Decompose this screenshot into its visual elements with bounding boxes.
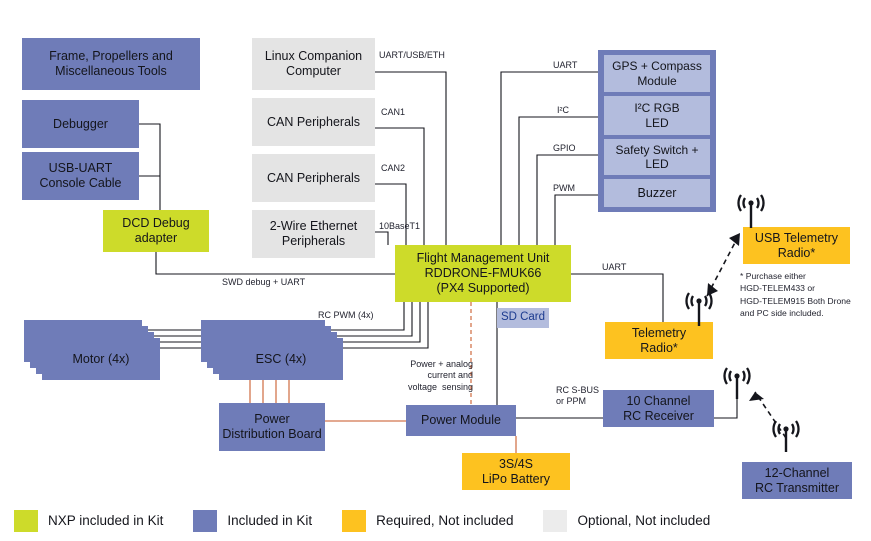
block-can-peripherals-1[interactable]: CAN Peripherals: [252, 98, 375, 146]
antenna-icon-usb-telemetry: [731, 192, 771, 232]
block-gps-compass-module[interactable]: GPS + Compass Module: [604, 55, 710, 92]
legend-item-required: Required, Not included: [342, 510, 513, 532]
label-rc-pwm: RC PWM (4x): [318, 310, 374, 321]
block-can-peripherals-2-label: CAN Peripherals: [267, 171, 360, 186]
block-safety-switch-led[interactable]: Safety Switch + LED: [604, 139, 710, 175]
block-sd-card[interactable]: SD Card: [497, 308, 549, 328]
block-gps-compass-module-label: GPS + Compass Module: [612, 59, 702, 87]
label-uart-gps: UART: [553, 60, 577, 71]
legend-swatch-included: [193, 510, 217, 532]
block-rc-receiver-label: 10 Channel RC Receiver: [623, 394, 694, 424]
legend-label-included: Included in Kit: [227, 513, 312, 528]
block-power-distribution-board[interactable]: Power Distribution Board: [219, 403, 325, 451]
block-buzzer[interactable]: Buzzer: [604, 179, 710, 207]
block-esc-label: ESC (4x): [256, 352, 307, 367]
block-motor-label: Motor (4x): [73, 352, 130, 367]
legend-swatch-required: [342, 510, 366, 532]
block-flight-management-unit-label: Flight Management Unit RDDRONE-FMUK66 (P…: [417, 251, 550, 295]
label-power-sensing: Power + analog current and voltage sensi…: [395, 359, 473, 393]
block-telemetry-radio-label: Telemetry Radio*: [632, 326, 686, 356]
label-uart-usb-eth: UART/USB/ETH: [379, 50, 445, 61]
block-flight-management-unit[interactable]: Flight Management Unit RDDRONE-FMUK66 (P…: [395, 245, 571, 302]
legend-swatch-nxp: [14, 510, 38, 532]
block-usb-uart-console-cable-label: USB-UART Console Cable: [40, 161, 122, 191]
antenna-icon-rc-transmitter: [766, 418, 806, 458]
label-10baset1: 10BaseT1: [379, 221, 420, 232]
label-gpio: GPIO: [553, 143, 576, 154]
label-pwm: PWM: [553, 183, 575, 194]
block-buzzer-label: Buzzer: [638, 186, 677, 201]
block-i2c-rgb-led-label: I²C RGB LED: [634, 101, 679, 129]
block-usb-uart-console-cable[interactable]: USB-UART Console Cable: [22, 152, 139, 200]
legend-item-optional: Optional, Not included: [543, 510, 710, 532]
block-linux-companion-computer-label: Linux Companion Computer: [265, 49, 362, 79]
block-power-module[interactable]: Power Module: [406, 405, 516, 436]
legend-label-optional: Optional, Not included: [577, 513, 710, 528]
block-two-wire-ethernet-peripherals[interactable]: 2-Wire Ethernet Peripherals: [252, 210, 375, 258]
block-dcd-debug-adapter-label: DCD Debug adapter: [122, 216, 189, 246]
block-lipo-battery-label: 3S/4S LiPo Battery: [482, 457, 550, 487]
block-two-wire-ethernet-peripherals-label: 2-Wire Ethernet Peripherals: [270, 219, 358, 249]
label-rc-sbus-ppm: RC S-BUS or PPM: [556, 385, 599, 408]
block-linux-companion-computer[interactable]: Linux Companion Computer: [252, 38, 375, 90]
telemetry-footnote: * Purchase either HGD-TELEM433 or HGD-TE…: [740, 270, 870, 320]
legend-item-included: Included in Kit: [193, 510, 312, 532]
block-can-peripherals-1-label: CAN Peripherals: [267, 115, 360, 130]
block-rc-transmitter-label: 12-Channel RC Transmitter: [755, 466, 839, 496]
block-power-distribution-board-label: Power Distribution Board: [222, 412, 321, 442]
legend-label-nxp: NXP included in Kit: [48, 513, 163, 528]
block-sd-card-label: SD Card: [501, 311, 545, 325]
block-rc-receiver[interactable]: 10 Channel RC Receiver: [603, 390, 714, 427]
diagram-canvas: Frame, Propellers and Miscellaneous Tool…: [0, 0, 871, 541]
block-usb-telemetry-radio-label: USB Telemetry Radio*: [755, 231, 838, 261]
block-power-module-label: Power Module: [421, 413, 501, 428]
block-debugger[interactable]: Debugger: [22, 100, 139, 148]
legend-swatch-optional: [543, 510, 567, 532]
block-safety-switch-led-label: Safety Switch + LED: [615, 143, 698, 171]
block-esc[interactable]: ESC (4x): [219, 338, 343, 380]
label-can2: CAN2: [381, 163, 405, 174]
legend-label-required: Required, Not included: [376, 513, 513, 528]
label-swd-debug-uart: SWD debug + UART: [222, 277, 305, 288]
label-can1: CAN1: [381, 107, 405, 118]
block-usb-telemetry-radio[interactable]: USB Telemetry Radio*: [743, 227, 850, 264]
block-i2c-rgb-led[interactable]: I²C RGB LED: [604, 96, 710, 135]
antenna-icon-rc-receiver: [717, 365, 757, 405]
block-motor[interactable]: Motor (4x): [42, 338, 160, 380]
block-debugger-label: Debugger: [53, 117, 108, 132]
label-uart-telemetry: UART: [602, 262, 626, 273]
block-can-peripherals-2[interactable]: CAN Peripherals: [252, 154, 375, 202]
label-i2c: I²C: [557, 105, 569, 116]
block-frame-tools-label: Frame, Propellers and Miscellaneous Tool…: [49, 49, 173, 79]
legend: NXP included in Kit Included in Kit Requ…: [0, 500, 871, 541]
block-lipo-battery[interactable]: 3S/4S LiPo Battery: [462, 453, 570, 490]
block-rc-transmitter[interactable]: 12-Channel RC Transmitter: [742, 462, 852, 499]
block-frame-tools[interactable]: Frame, Propellers and Miscellaneous Tool…: [22, 38, 200, 90]
block-dcd-debug-adapter[interactable]: DCD Debug adapter: [103, 210, 209, 252]
antenna-icon-telemetry-radio: [679, 290, 719, 330]
legend-item-nxp: NXP included in Kit: [14, 510, 163, 532]
